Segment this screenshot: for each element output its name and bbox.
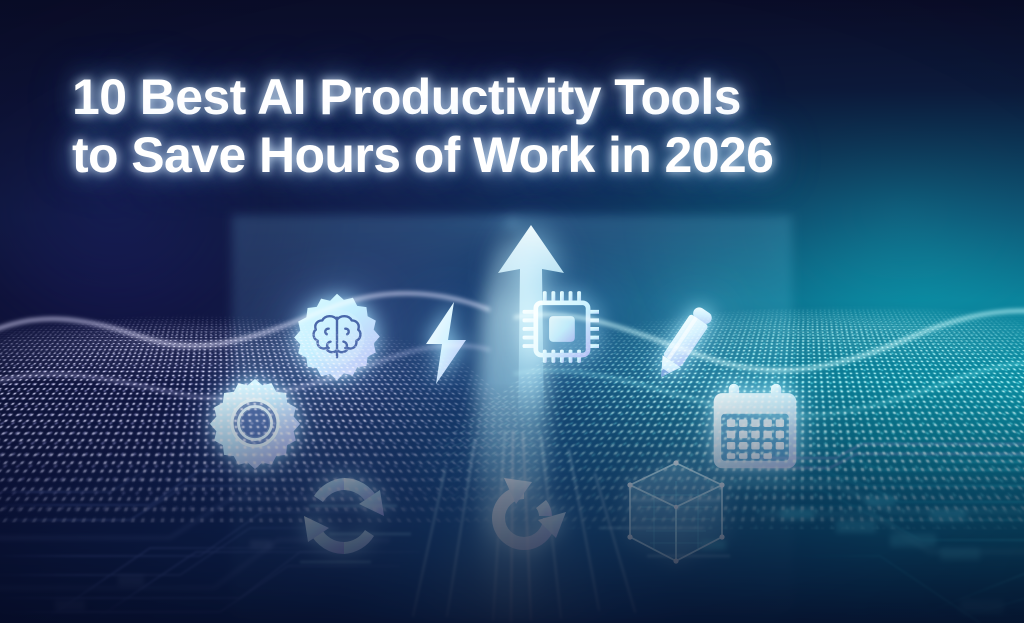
background-bottom-darkening bbox=[0, 383, 1024, 623]
title-line-2: to Save Hours of Work in 2026 bbox=[72, 126, 972, 184]
lightning-bolt-icon bbox=[416, 300, 476, 386]
page-title: 10 Best AI Productivity Tools to Save Ho… bbox=[72, 68, 972, 184]
brain-gear-icon bbox=[291, 291, 383, 383]
pen-icon bbox=[644, 300, 724, 386]
hero-banner: 10 Best AI Productivity Tools to Save Ho… bbox=[0, 0, 1024, 623]
title-line-1: 10 Best AI Productivity Tools bbox=[72, 68, 972, 126]
